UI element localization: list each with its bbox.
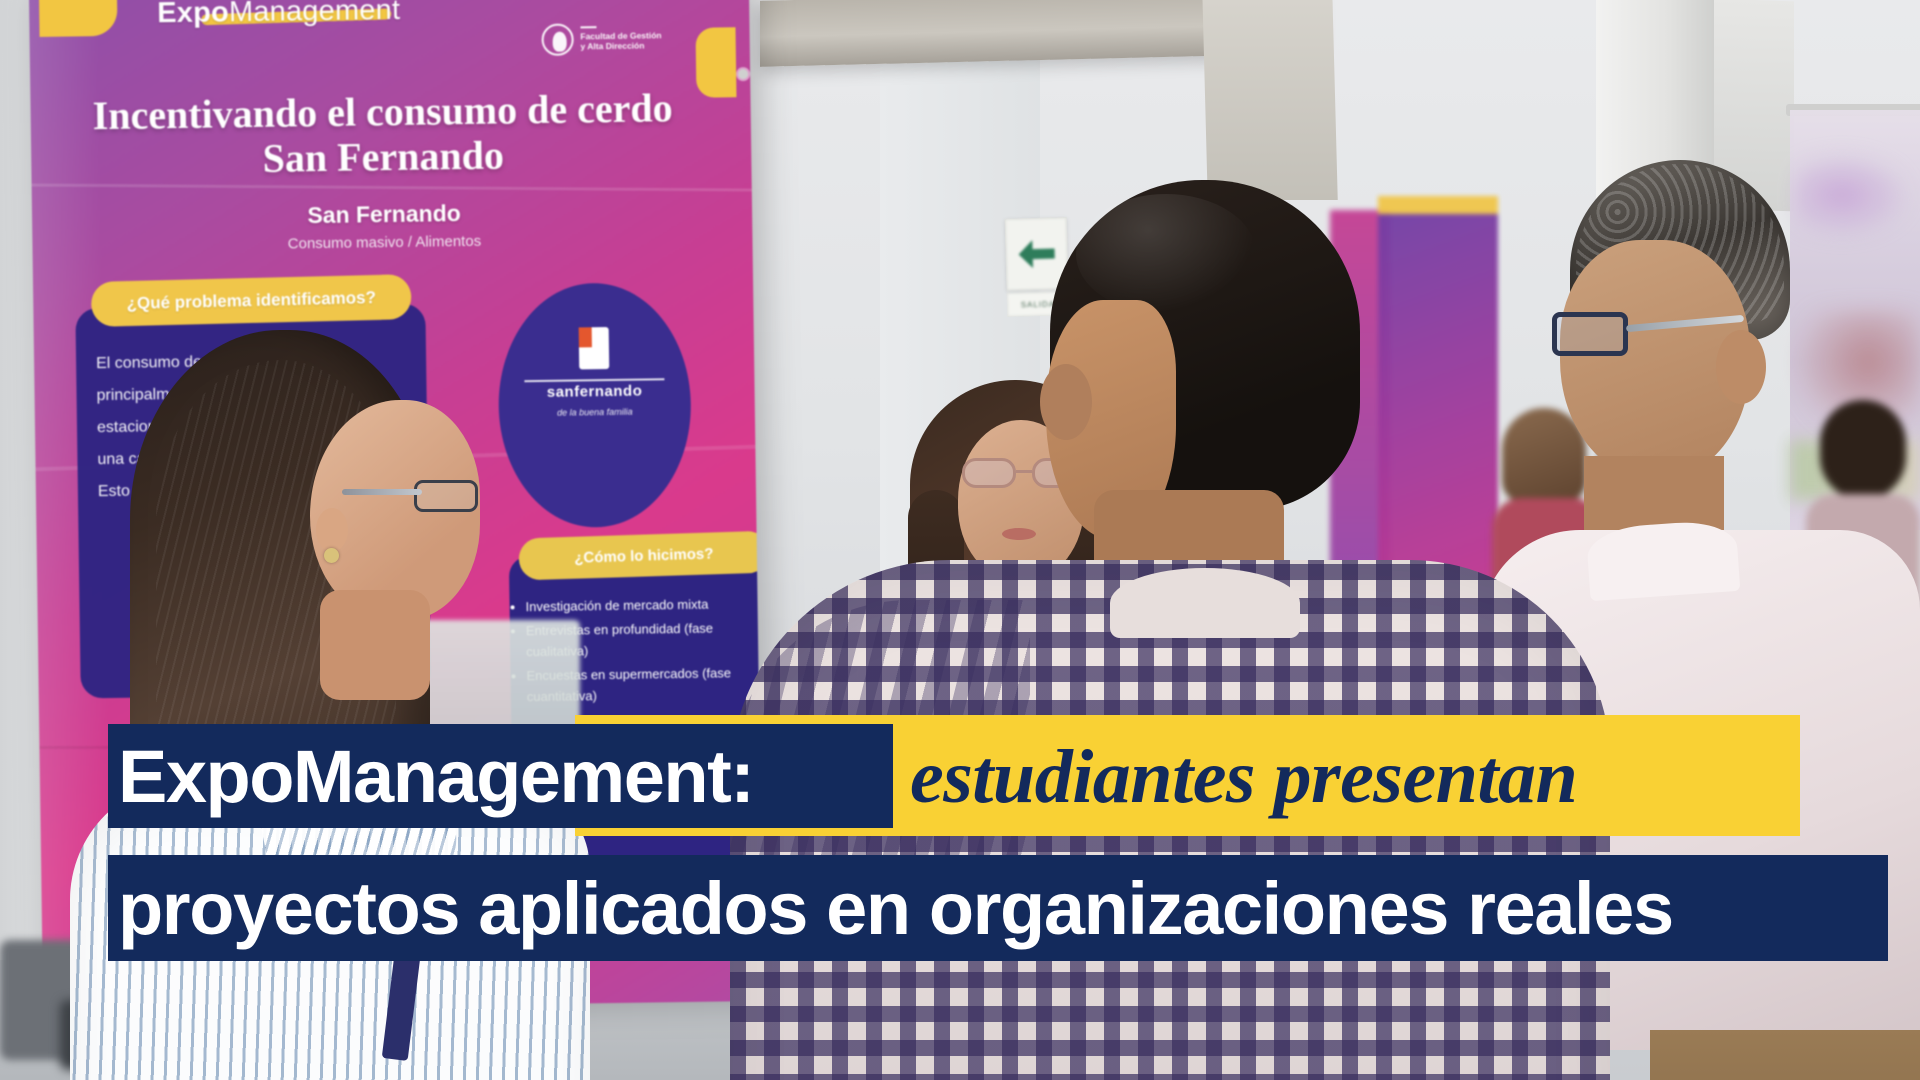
- ceiling-beam-secondary: [1202, 0, 1337, 200]
- headline-line-1-primary: ExpoManagement:: [118, 726, 888, 826]
- faculty-seal-icon: [541, 23, 573, 55]
- hero-image-canvas: ExpoManagement Facultad de Gestión y Alt…: [0, 0, 1920, 1080]
- poster-corner-accent-top-right: [695, 27, 736, 98]
- eyeglasses-icon: [1552, 312, 1742, 356]
- poster-title: Incentivando el consumo de cerdo San Fer…: [72, 86, 693, 184]
- poster-subtitle: San Fernando: [74, 197, 694, 233]
- earring: [324, 548, 339, 563]
- poster-brand-bold: Expo: [157, 0, 229, 29]
- poster-brand: ExpoManagement: [157, 0, 400, 30]
- poster-brand-light: Management: [229, 0, 401, 28]
- faculty-logo-line2: y Alta Dirección: [580, 40, 661, 52]
- poster-problem-label: ¿Qué problema identificamos?: [91, 274, 412, 327]
- faculty-logo-line1: Facultad de Gestión: [580, 30, 661, 42]
- poster-category: Consumo masivo / Alimentos: [74, 230, 694, 256]
- faculty-logo: Facultad de Gestión y Alta Dirección: [541, 22, 662, 56]
- poster-eyelet: [738, 69, 748, 79]
- poster-corner-accent-top-left: [39, 0, 118, 37]
- person-student-striped-shirt: [70, 330, 590, 1080]
- headline-line-2: proyectos aplicados en organizaciones re…: [118, 857, 1888, 959]
- eyeglasses-icon: [342, 480, 478, 512]
- headline-line-1-italic: estudiantes presentan: [910, 722, 1790, 832]
